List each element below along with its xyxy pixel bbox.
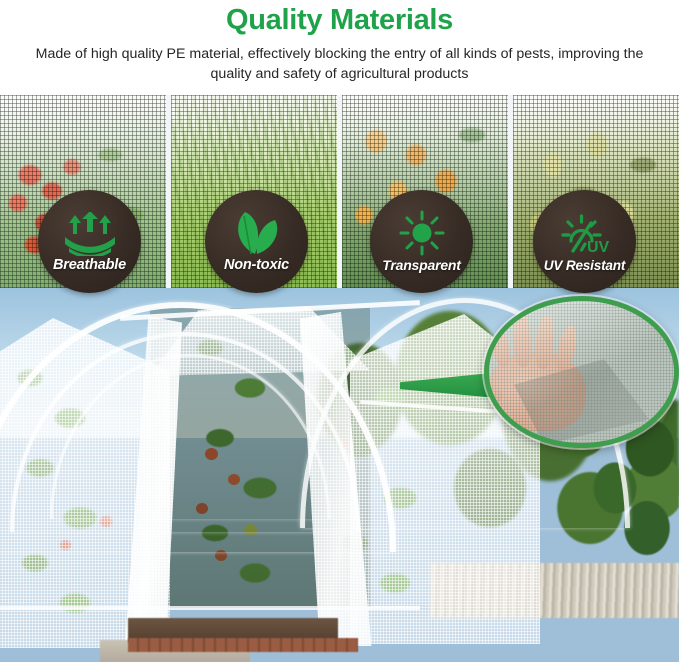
breathable-airflow-arrows-icon: [60, 210, 120, 256]
brick-edge: [128, 638, 358, 652]
feature-badge-transparent: Transparent: [370, 190, 473, 293]
feature-badge-breathable: Breathable: [38, 190, 141, 293]
page-title: Quality Materials: [0, 0, 679, 35]
mesh-closeup-magnifier: [484, 296, 679, 448]
header: Quality Materials Made of high quality P…: [0, 0, 679, 95]
magnifier-photo: [489, 301, 674, 443]
badge-label: Non-toxic: [224, 257, 289, 273]
sun-icon: [397, 210, 447, 256]
uv-blocked-sun-icon: UV: [557, 211, 613, 257]
badge-label: Breathable: [53, 257, 126, 273]
badge-label: UV Resistant: [544, 258, 625, 273]
feature-badge-non-toxic: Non-toxic: [205, 190, 308, 293]
greenhouse-scene: [0, 288, 679, 662]
feature-badge-uv-resistant: UV UV Resistant: [533, 190, 636, 293]
badge-label: Transparent: [382, 257, 460, 273]
uv-icon-text: UV: [587, 239, 610, 256]
page-subtitle: Made of high quality PE material, effect…: [30, 35, 650, 84]
leaves-icon: [231, 210, 283, 256]
product-feature-image: Quality Materials Made of high quality P…: [0, 0, 679, 662]
